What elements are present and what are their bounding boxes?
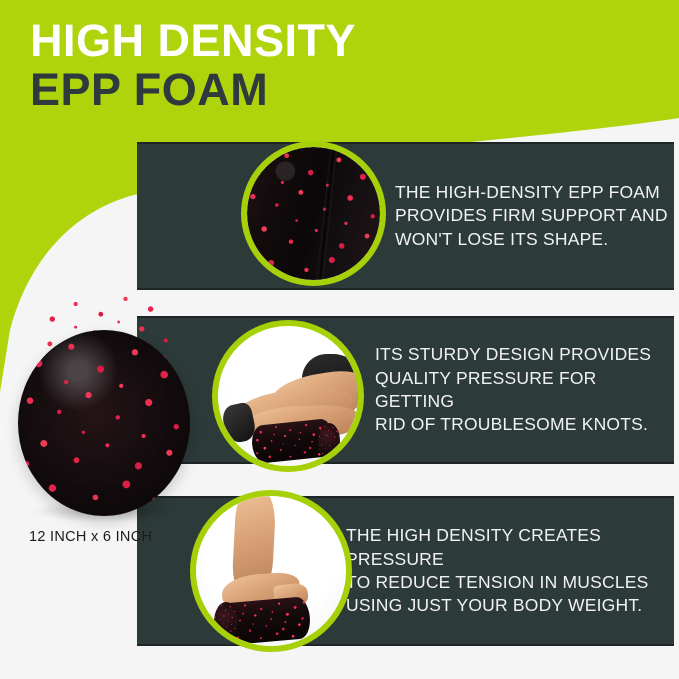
roller-end-cap — [214, 602, 238, 642]
feature-1-text: THE HIGH-DENSITY EPP FOAM PROVIDES FIRM … — [395, 181, 668, 251]
foam-closeup-photo — [247, 147, 380, 280]
legs-rolling-photo — [218, 326, 358, 466]
title-line-2: EPP FOAM — [30, 67, 356, 112]
foot-on-roller-photo — [196, 496, 346, 646]
red-speck-layer — [214, 602, 238, 642]
feature-3-text: THE HIGH DENSITY CREATES PRESSURE TO RED… — [346, 524, 674, 617]
feature-panel-1: THE HIGH-DENSITY EPP FOAM PROVIDES FIRM … — [137, 142, 674, 290]
feature-2-text: ITS STURDY DESIGN PROVIDES QUALITY PRESS… — [375, 343, 674, 436]
product-hero-image — [12, 288, 187, 518]
red-speck-layer — [247, 147, 380, 280]
feature-2-image-bubble — [212, 320, 364, 472]
roller-end-face-art — [18, 330, 190, 516]
feature-1-image-bubble — [241, 141, 386, 286]
title-line-1: HIGH DENSITY — [30, 18, 356, 63]
product-size-caption: 12 INCH x 6 INCH — [29, 529, 152, 545]
page-title: HIGH DENSITY EPP FOAM — [30, 18, 356, 112]
red-speck-layer — [18, 330, 190, 516]
roller-end-cap — [318, 423, 340, 459]
foam-texture-art — [247, 147, 380, 280]
red-speck-layer — [318, 423, 340, 459]
infographic-page: HIGH DENSITY EPP FOAM THE HIGH-DENSITY E… — [0, 0, 679, 679]
feature-3-image-bubble — [190, 490, 352, 652]
